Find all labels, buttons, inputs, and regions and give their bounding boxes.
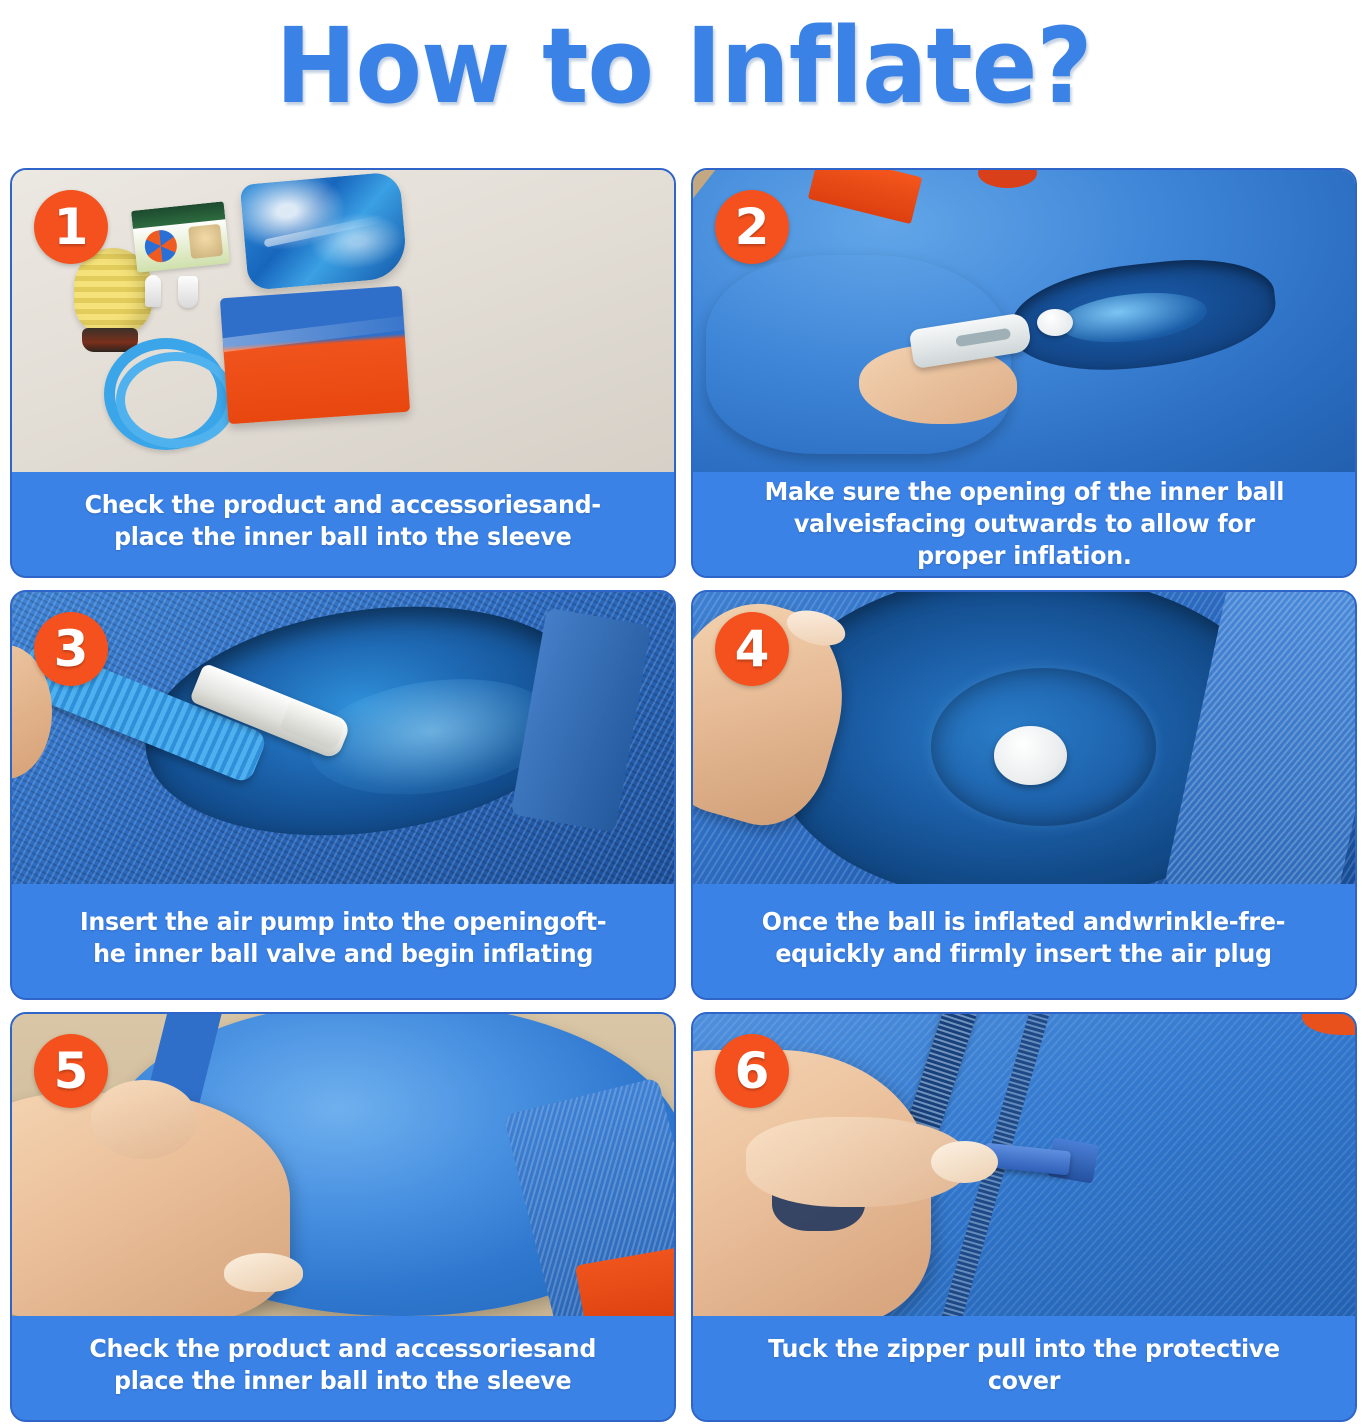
caption-line: Check the product and accessoriesand-	[85, 489, 601, 521]
caption-line: place the inner ball into the sleeve	[90, 1365, 597, 1397]
step-photo-2: 2	[693, 170, 1355, 472]
step-photo-6: 6	[693, 1014, 1355, 1316]
step-caption-4: Once the ball is inflated andwrinkle-fre…	[693, 884, 1355, 998]
scene-zipper-pull	[693, 1014, 1355, 1316]
step-caption-5: Check the product and accessoriesand pla…	[12, 1316, 674, 1420]
caption-line: Once the ball is inflated andwrinkle-fre…	[762, 906, 1285, 938]
step-caption-2: Make sure the opening of the inner ball …	[693, 472, 1355, 578]
fingernail-icon	[931, 1141, 997, 1183]
caption-line: equickly and firmly insert the air plug	[762, 938, 1285, 970]
nozzle-adapter-icon	[178, 276, 198, 308]
step-badge-4: 4	[715, 612, 789, 686]
scene-air-plug	[693, 592, 1355, 884]
thumb-icon	[91, 1080, 197, 1159]
infographic-page: How to Inflate?	[0, 0, 1367, 1425]
caption-line: place the inner ball into the sleeve	[85, 521, 601, 553]
step-panel-3: 3 Insert the air pump into the openingof…	[10, 590, 676, 1000]
caption-line: Make sure the opening of the inner ball	[764, 476, 1283, 508]
step-photo-5: 5	[12, 1014, 674, 1316]
step-badge-1: 1	[34, 190, 108, 264]
step-badge-5: 5	[34, 1034, 108, 1108]
white-air-plug-icon	[994, 726, 1067, 784]
blue-orange-sleeve-icon	[220, 286, 410, 424]
step-badge-2: 2	[715, 190, 789, 264]
caption-line: Insert the air pump into the openingoft-	[80, 906, 607, 938]
scene-press-ball	[12, 1014, 674, 1316]
air-plug-icon	[145, 275, 161, 307]
step-panel-2: 2 Make sure the opening of the inner bal…	[691, 168, 1357, 578]
caption-line: valveisfacing outwards to allow for	[764, 508, 1283, 540]
thumbnail-icon	[224, 1253, 303, 1292]
step-caption-1: Check the product and accessoriesand- pl…	[12, 472, 674, 576]
caption-line: Check the product and accessoriesand	[90, 1333, 597, 1365]
page-title: How to Inflate?	[48, 6, 1319, 126]
step-panel-5: 5 Check the product and accessoriesand p…	[10, 1012, 676, 1422]
step-photo-3: 3	[12, 592, 674, 884]
step-caption-3: Insert the air pump into the openingoft-…	[12, 884, 674, 998]
step-panel-6: 6 Tuck the zipper pull into the protecti…	[691, 1012, 1357, 1422]
step-caption-6: Tuck the zipper pull into the protective…	[693, 1316, 1355, 1420]
scene-hand-valve-tool	[693, 170, 1355, 472]
step-badge-3: 3	[34, 612, 108, 686]
caption-line: proper inflation.	[764, 540, 1283, 572]
steps-grid: 1 Check the product and accessoriesand- …	[10, 168, 1357, 1422]
step-photo-1: 1	[12, 170, 674, 472]
blue-hose-inner-icon	[116, 352, 236, 448]
step-panel-4: 4 Once the ball is inflated andwrinkle-f…	[691, 590, 1357, 1000]
caption-line: Tuck the zipper pull into the protective…	[744, 1333, 1305, 1397]
step-panel-1: 1 Check the product and accessoriesand- …	[10, 168, 676, 578]
caption-line: he inner ball valve and begin inflating	[80, 938, 607, 970]
scene-pump-nozzle	[12, 592, 674, 884]
white-valve-cap-icon	[1037, 309, 1073, 336]
step-badge-6: 6	[715, 1034, 789, 1108]
step-photo-4: 4	[693, 592, 1355, 884]
scene-parts-layout	[12, 170, 674, 472]
instruction-card-icon	[131, 201, 230, 272]
deflated-inner-ball-icon	[240, 171, 409, 291]
